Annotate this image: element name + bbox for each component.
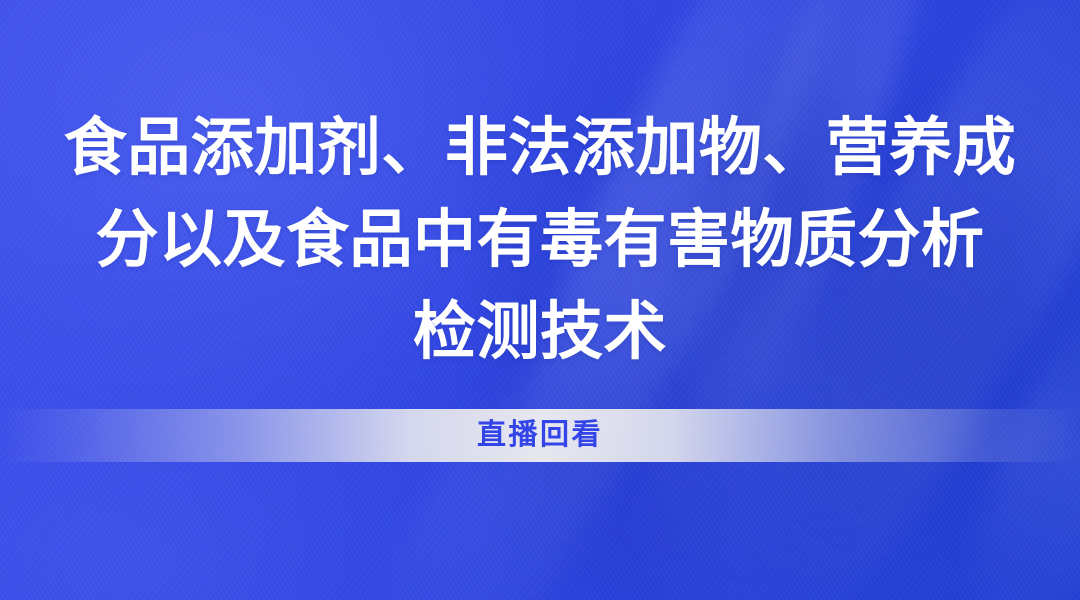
poster-content: 食品添加剂、非法添加物、营养成 分以及食品中有毒有害物质分析 检测技术 直播回看	[0, 0, 1080, 600]
title-line-2: 分以及食品中有毒有害物质分析	[18, 194, 1062, 286]
replay-banner-label: 直播回看	[477, 421, 603, 450]
title-line-3: 检测技术	[18, 286, 1062, 378]
poster-canvas: 食品添加剂、非法添加物、营养成 分以及食品中有毒有害物质分析 检测技术 直播回看	[0, 0, 1080, 600]
title-line-1: 食品添加剂、非法添加物、营养成	[18, 102, 1062, 194]
course-title: 食品添加剂、非法添加物、营养成 分以及食品中有毒有害物质分析 检测技术	[0, 102, 1080, 378]
replay-banner[interactable]: 直播回看	[0, 409, 1080, 462]
